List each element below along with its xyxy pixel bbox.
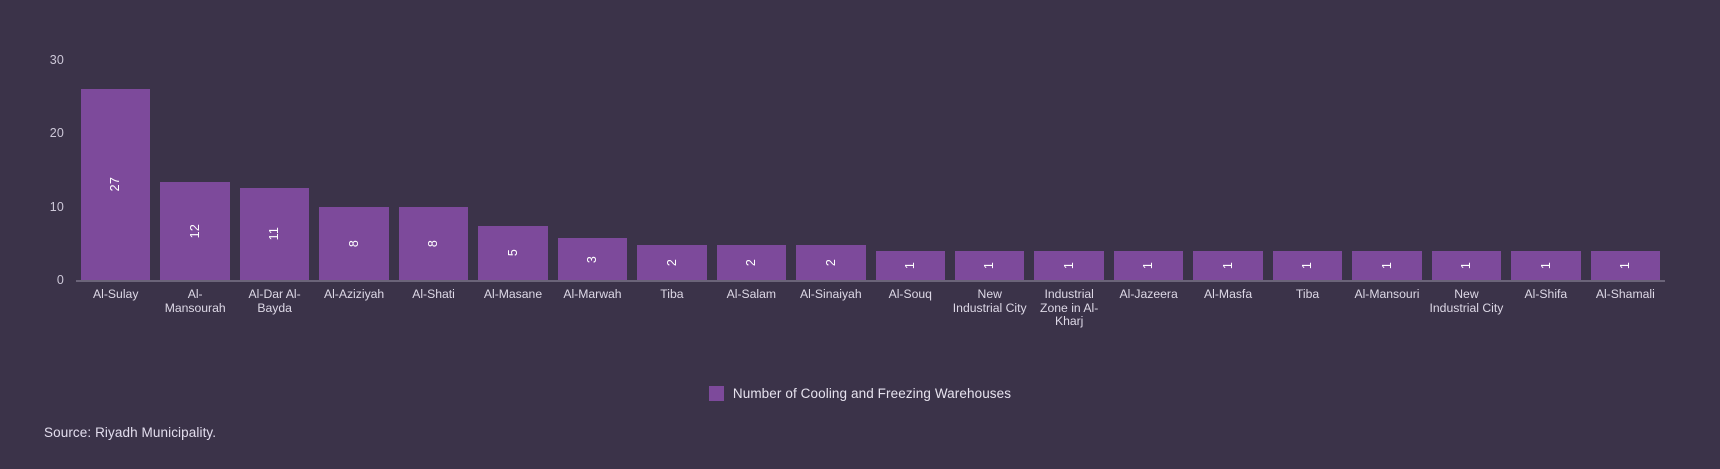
bar-value-label: 12 <box>189 224 202 238</box>
bar-slot: 1 <box>1347 61 1426 280</box>
bar-slot: 8 <box>314 61 393 280</box>
bar[interactable]: 1 <box>1591 251 1660 280</box>
bar[interactable]: 2 <box>637 245 706 280</box>
bar-value-label: 2 <box>745 259 758 266</box>
x-axis-tick-label: Tiba <box>632 288 711 350</box>
x-axis-tick-label: Al-Salam <box>712 288 791 350</box>
bar[interactable]: 1 <box>955 251 1024 280</box>
bar[interactable]: 2 <box>717 245 786 280</box>
x-axis-tick-label: Al-Shamali <box>1586 288 1665 350</box>
bar[interactable]: 1 <box>1511 251 1580 280</box>
bar-value-label: 27 <box>109 177 122 191</box>
x-axis-baseline <box>76 280 1665 282</box>
bar-group: 27121188532221111111111 <box>76 61 1665 280</box>
bar-value-label: 8 <box>348 240 361 247</box>
legend-label[interactable]: Number of Cooling and Freezing Warehouse… <box>733 386 1011 401</box>
bar-slot: 1 <box>1506 61 1585 280</box>
bar[interactable]: 8 <box>319 207 388 280</box>
bar-slot: 1 <box>1029 61 1108 280</box>
bar-slot: 1 <box>871 61 950 280</box>
bar-value-label: 2 <box>825 259 838 266</box>
bar[interactable]: 8 <box>399 207 468 280</box>
bar-slot: 1 <box>1427 61 1506 280</box>
bar-slot: 1 <box>950 61 1029 280</box>
bar-value-label: 1 <box>1619 262 1632 269</box>
legend-swatch <box>709 386 724 401</box>
bar-slot: 12 <box>155 61 234 280</box>
bar[interactable]: 3 <box>558 238 627 280</box>
bar[interactable]: 11 <box>240 188 309 280</box>
x-axis-tick-label: Tiba <box>1268 288 1347 350</box>
x-axis-tick-label: Al-Masfa <box>1188 288 1267 350</box>
bar-value-label: 3 <box>586 256 599 263</box>
bar[interactable]: 1 <box>1273 251 1342 280</box>
bar-slot: 1 <box>1586 61 1665 280</box>
bar-slot: 11 <box>235 61 314 280</box>
y-tick-label: 20 <box>50 126 64 140</box>
bar-slot: 27 <box>76 61 155 280</box>
bar-slot: 2 <box>712 61 791 280</box>
source-note: Source: Riyadh Municipality. <box>44 425 216 440</box>
y-tick-label: 10 <box>50 200 64 214</box>
bar-slot: 3 <box>553 61 632 280</box>
x-axis-tick-label: New Industrial City <box>1427 288 1506 350</box>
x-axis-tick-label: Al-Shati <box>394 288 473 350</box>
bar[interactable]: 1 <box>1432 251 1501 280</box>
x-axis-tick-label: Industrial Zone in Al-Kharj <box>1029 288 1108 350</box>
bar-slot: 1 <box>1268 61 1347 280</box>
bar[interactable]: 5 <box>478 226 547 280</box>
bar[interactable]: 1 <box>1114 251 1183 280</box>
bar-value-label: 2 <box>666 259 679 266</box>
bar-slot: 2 <box>632 61 711 280</box>
x-axis-tick-label: Al-Sulay <box>76 288 155 350</box>
bar-value-label: 1 <box>1142 262 1155 269</box>
bar[interactable]: 12 <box>160 182 229 280</box>
x-axis-tick-label: Al-Shifa <box>1506 288 1585 350</box>
bar-value-label: 1 <box>1540 262 1553 269</box>
y-tick-label: 0 <box>57 273 64 287</box>
x-axis-tick-label: Al-Sinaiyah <box>791 288 870 350</box>
bar[interactable]: 1 <box>876 251 945 280</box>
bar-value-label: 1 <box>904 262 917 269</box>
bar-value-label: 1 <box>983 262 996 269</box>
bar-slot: 1 <box>1188 61 1267 280</box>
x-axis-tick-label: Al-Marwah <box>553 288 632 350</box>
x-axis-tick-label: Al-Masane <box>473 288 552 350</box>
x-axis-tick-label: Al-Dar Al-Bayda <box>235 288 314 350</box>
plot-area: 27121188532221111111111 <box>76 60 1665 282</box>
bar-value-label: 1 <box>1381 262 1394 269</box>
bar-value-label: 1 <box>1063 262 1076 269</box>
bar-value-label: 5 <box>507 249 520 256</box>
bar-value-label: 1 <box>1460 262 1473 269</box>
x-axis-tick-label: Al-Jazeera <box>1109 288 1188 350</box>
bar[interactable]: 1 <box>1034 251 1103 280</box>
bar[interactable]: 1 <box>1352 251 1421 280</box>
bar-value-label: 1 <box>1222 262 1235 269</box>
y-tick-label: 30 <box>50 53 64 67</box>
bar-value-label: 1 <box>1301 262 1314 269</box>
x-axis-tick-label: Al-Mansouri <box>1347 288 1426 350</box>
bar[interactable]: 1 <box>1193 251 1262 280</box>
chart-legend: Number of Cooling and Freezing Warehouse… <box>0 386 1720 401</box>
x-axis-tick-label: Al-Souq <box>871 288 950 350</box>
bar-slot: 8 <box>394 61 473 280</box>
x-axis-labels: Al-SulayAl-MansourahAl-Dar Al-BaydaAl-Az… <box>76 288 1665 350</box>
x-axis-tick-label: Al-Aziziyah <box>314 288 393 350</box>
bar[interactable]: 2 <box>796 245 865 280</box>
bar-slot: 1 <box>1109 61 1188 280</box>
bar-chart: 3020100 27121188532221111111111 Al-Sulay… <box>0 0 1720 469</box>
x-axis-tick-label: Al-Mansourah <box>155 288 234 350</box>
x-axis-tick-label: New Industrial City <box>950 288 1029 350</box>
bar-slot: 2 <box>791 61 870 280</box>
bar-value-label: 11 <box>268 227 281 240</box>
bar-slot: 5 <box>473 61 552 280</box>
bar[interactable]: 27 <box>81 89 150 281</box>
bar-value-label: 8 <box>427 240 440 247</box>
